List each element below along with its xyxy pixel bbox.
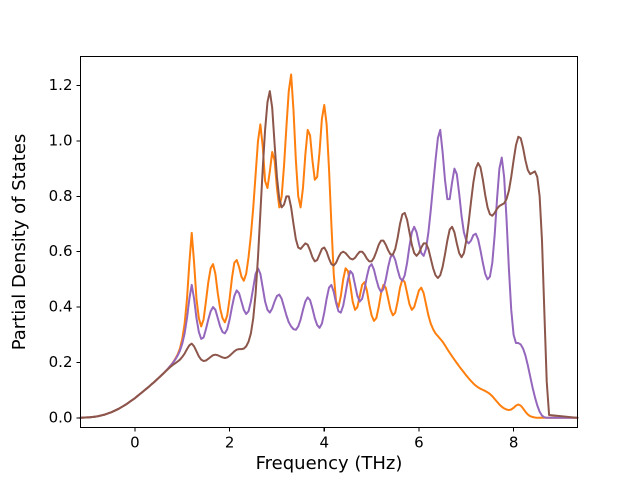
y-axis-ticks: 0.00.20.40.60.81.01.2 bbox=[49, 76, 81, 426]
y-tick-label: 0.0 bbox=[49, 408, 73, 426]
y-tick-label: 0.8 bbox=[49, 187, 73, 205]
y-axis-title: Partial Density of States bbox=[9, 134, 30, 351]
y-tick-label: 1.2 bbox=[49, 76, 73, 94]
y-tick-label: 0.6 bbox=[49, 242, 73, 260]
plot-background bbox=[81, 57, 578, 428]
x-tick-label: 2 bbox=[225, 434, 235, 452]
plot-area: 02468 0.00.20.40.60.81.01.2 bbox=[49, 57, 578, 452]
pdos-plot: 02468 0.00.20.40.60.81.01.2 Frequency (T… bbox=[0, 0, 640, 480]
y-tick-label: 0.4 bbox=[49, 298, 73, 316]
figure-canvas: 02468 0.00.20.40.60.81.01.2 Frequency (T… bbox=[0, 0, 640, 480]
x-axis-title: Frequency (THz) bbox=[256, 453, 403, 474]
x-axis-ticks: 02468 bbox=[130, 428, 518, 452]
x-tick-label: 8 bbox=[509, 434, 519, 452]
x-tick-label: 0 bbox=[130, 434, 140, 452]
x-tick-label: 6 bbox=[414, 434, 424, 452]
y-tick-label: 1.0 bbox=[49, 131, 73, 149]
x-tick-label: 4 bbox=[319, 434, 329, 452]
y-tick-label: 0.2 bbox=[49, 353, 73, 371]
